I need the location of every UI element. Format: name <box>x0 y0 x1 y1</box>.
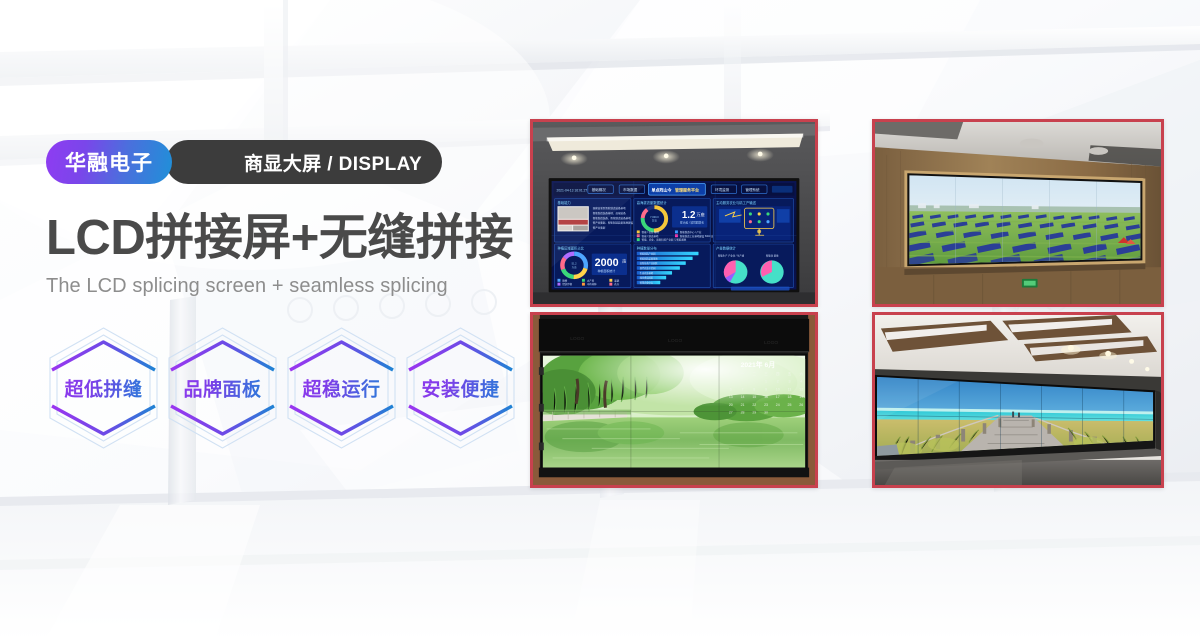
svg-text:16: 16 <box>764 395 768 399</box>
feature-label: 超稳运行 <box>282 375 401 402</box>
hero-content: 商显大屏 / DISPLAY 华融电子 LCD拼接屏+无缝拼接 The LCD … <box>46 140 546 298</box>
photo-beach-boardwalk-video-wall <box>872 312 1164 488</box>
svg-text:果蔬: 果蔬 <box>614 278 619 282</box>
solar-farm-scene <box>875 122 1161 304</box>
svg-text:管理服务平台: 管理服务平台 <box>675 187 699 193</box>
svg-text:四: 四 <box>776 372 780 376</box>
svg-text:28: 28 <box>741 411 745 415</box>
svg-text:环境监测: 环境监测 <box>715 187 730 192</box>
svg-text:智能 / 制造基地: 智能 / 制造基地 <box>642 234 659 238</box>
page-title: LCD拼接屏+无缝拼接 <box>46 213 546 265</box>
feature-label: 安装便捷 <box>401 375 520 402</box>
svg-text:15: 15 <box>752 395 756 399</box>
product-photo-collage: 2021-04-13 16:01:27 基础概况 市场数据 单点阵山今 管理服务… <box>0 0 1200 640</box>
photo-dashboard-video-wall: 2021-04-13 16:01:27 基础概况 市场数据 单点阵山今 管理服务… <box>530 119 818 307</box>
svg-text:18: 18 <box>788 395 792 399</box>
svg-text:6: 6 <box>730 387 732 391</box>
svg-text:花卉: 花卉 <box>614 282 619 286</box>
svg-text:一: 一 <box>741 372 745 376</box>
svg-text:7: 7 <box>742 387 744 391</box>
svg-text:19: 19 <box>799 395 803 399</box>
svg-text:12: 12 <box>799 387 803 391</box>
feature-hexagon-4: 安装便捷 <box>401 326 520 450</box>
svg-text:经济作物: 经济作物 <box>562 282 572 286</box>
svg-text:种植面积统计: 种植面积统计 <box>598 268 616 273</box>
promo-banner: 商显大屏 / DISPLAY 华融电子 LCD拼接屏+无缝拼接 The LCD … <box>0 0 1200 640</box>
svg-text:智能、农业、高新科技产业园 与智能基地: 智能、农业、高新科技产业园 与智能基地 <box>642 238 687 242</box>
photo-willow-lake-video-wall: LOGOLOGOLOGO <box>530 312 818 488</box>
svg-text:20: 20 <box>729 403 733 407</box>
svg-text:LOGO: LOGO <box>668 338 682 344</box>
svg-text:10: 10 <box>776 387 780 391</box>
svg-text:27: 27 <box>729 411 733 415</box>
svg-text:51.2: 51.2 <box>572 262 578 265</box>
svg-text:智能 / 农业 基地: 智能 / 农业 基地 <box>642 230 660 234</box>
feature-hexagon-2: 品牌面板 <box>163 326 282 450</box>
svg-text:2: 2 <box>777 380 779 384</box>
svg-text:2000: 2000 <box>595 257 619 269</box>
svg-text:1: 1 <box>765 380 767 384</box>
svg-text:智能制造中心 / 产业: 智能制造中心 / 产业 <box>680 230 702 234</box>
svg-text:11: 11 <box>788 387 792 391</box>
svg-text:二: 二 <box>753 372 757 376</box>
svg-text:2021年 6月: 2021年 6月 <box>741 360 776 369</box>
svg-text:高海拔农副数据统计: 高海拔农副数据统计 <box>637 200 668 205</box>
svg-text:产量数据统计: 产量数据统计 <box>716 245 737 250</box>
svg-text:主动服务农业与精工产输送: 主动服务农业与精工产输送 <box>716 200 756 205</box>
svg-text:万座: 万座 <box>697 211 705 217</box>
svg-text:LOGO: LOGO <box>764 340 778 346</box>
svg-text:五: 五 <box>788 372 792 376</box>
svg-text:7,000.0: 7,000.0 <box>650 216 659 219</box>
svg-text:13: 13 <box>729 395 733 399</box>
photo-solar-farm-video-wall <box>872 119 1164 307</box>
svg-text:29: 29 <box>752 411 756 415</box>
svg-text:21: 21 <box>741 403 745 407</box>
feature-hexagon-3: 超稳运行 <box>282 326 401 450</box>
svg-text:万元: 万元 <box>652 220 658 223</box>
svg-text:管理系统: 管理系统 <box>745 187 760 192</box>
beach-boardwalk-scene <box>875 315 1161 485</box>
svg-text:六: 六 <box>800 371 804 376</box>
svg-text:中药材种: 中药材种 <box>587 282 597 286</box>
feature-hexagon-row: 超低拼缝 品牌面板 <box>44 326 520 450</box>
feature-hexagon-1: 超低拼缝 <box>44 326 163 450</box>
svg-text:三: 三 <box>764 372 768 376</box>
page-subtitle: The LCD splicing screen + seamless splic… <box>46 275 546 298</box>
svg-text:单点阵山今: 单点阵山今 <box>651 187 671 193</box>
svg-text:25: 25 <box>788 403 792 407</box>
svg-text:亩: 亩 <box>622 257 626 263</box>
svg-text:14: 14 <box>741 395 745 399</box>
svg-text:17: 17 <box>776 395 780 399</box>
svg-text:LOGO: LOGO <box>570 336 584 342</box>
brand-badge-row: 商显大屏 / DISPLAY 华融电子 <box>46 140 172 184</box>
svg-text:日: 日 <box>729 372 733 376</box>
svg-text:种植数量分布: 种植数量分布 <box>637 245 658 250</box>
svg-text:24: 24 <box>776 403 780 407</box>
svg-text:水产养: 水产养 <box>587 278 595 282</box>
svg-text:3: 3 <box>789 380 791 384</box>
svg-text:30: 30 <box>764 411 768 415</box>
svg-text:1.2: 1.2 <box>682 210 696 221</box>
svg-text:4: 4 <box>800 380 802 384</box>
svg-text:22: 22 <box>752 403 756 407</box>
feature-label: 品牌面板 <box>163 375 282 402</box>
svg-text:23: 23 <box>764 403 768 407</box>
svg-text:26: 26 <box>799 403 803 407</box>
svg-text:粮食: 粮食 <box>562 278 567 282</box>
feature-label: 超低拼缝 <box>44 375 163 402</box>
category-badge: 商显大屏 / DISPLAY <box>166 140 442 184</box>
willow-lake-scene: LOGOLOGOLOGO <box>533 315 815 485</box>
brand-name-badge: 华融电子 <box>46 140 172 184</box>
svg-text:9: 9 <box>765 387 767 391</box>
svg-text:8: 8 <box>753 387 755 391</box>
dashboard-scene: 2021-04-13 16:01:27 基础概况 市场数据 单点阵山今 管理服务… <box>533 122 815 304</box>
svg-text:累计起 / 较同期增长: 累计起 / 较同期增长 <box>680 221 704 225</box>
